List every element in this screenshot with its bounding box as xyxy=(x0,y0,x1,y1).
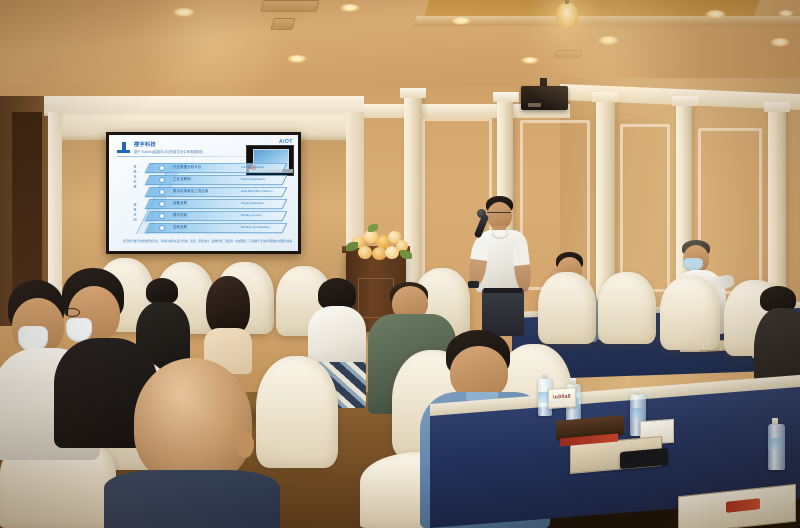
attendee-ear xyxy=(236,432,254,458)
diagram-layer xyxy=(145,199,288,209)
layer-label-en: Building Control xyxy=(241,211,261,221)
layer-label-cn: 设备互联 xyxy=(173,199,187,209)
flower-foliage xyxy=(368,224,378,232)
layer-label-cn: 工业互联网 xyxy=(173,175,191,185)
layer-label-en: Data Mid-Office Platform xyxy=(241,187,273,197)
presenter-head xyxy=(487,202,512,229)
downlight xyxy=(451,17,471,25)
slide-layer-diagram: 智能化系统 建筑空间 行业数据分析平台 Full Data Analysis 工… xyxy=(123,163,293,235)
layer-label-en: Single Application xyxy=(241,199,264,209)
downlight xyxy=(340,4,360,12)
presenter-glasses xyxy=(487,212,511,215)
layer-bullet-icon xyxy=(159,165,165,171)
diagram-axis-label-bottom: 建筑空间 xyxy=(133,203,137,223)
flower-foliage xyxy=(400,250,412,259)
presenter xyxy=(466,196,536,336)
downlight xyxy=(173,8,195,17)
flower-foliage xyxy=(346,242,358,251)
presenter-trousers xyxy=(482,288,524,336)
pilaster-capital xyxy=(764,102,790,112)
diagram-layer xyxy=(145,211,288,221)
conference-chair xyxy=(256,356,338,468)
layer-label-en: Smart Applications xyxy=(241,175,265,185)
projector-lens xyxy=(528,103,541,107)
conference-chair xyxy=(598,272,656,344)
layer-bullet-icon xyxy=(159,201,165,207)
air-vent xyxy=(270,18,295,30)
name-tent-card: \u00a0 xyxy=(548,387,576,409)
projection-screen: 楼宇科技 基于 Building智能化平台的楼宇全生命周期服务 AIOT 智能化… xyxy=(109,135,298,251)
layer-label-cn: 楼宇控制 xyxy=(173,211,187,221)
slide-footer-text: 基于楼宇数字化的智能化平台，为客户提供从设计咨询、安装、调试交付、运维升级、改造… xyxy=(123,240,295,244)
attendee-long-hair xyxy=(206,276,250,336)
conference-chair xyxy=(538,272,596,344)
layer-label-cn: 行业数据分析平台 xyxy=(173,163,201,173)
arch-beam-top xyxy=(44,96,364,116)
attendee-white-blouse xyxy=(308,306,366,364)
diagram-layer xyxy=(145,175,288,185)
layer-label-en: Full Data Analysis xyxy=(241,163,264,173)
wall-pilaster xyxy=(768,110,786,310)
layer-label-en: Building and Database xyxy=(241,223,270,233)
presentation-clicker xyxy=(468,281,479,288)
pilaster-capital xyxy=(672,96,698,106)
attendee-shoulders xyxy=(104,470,280,528)
microphone-head xyxy=(477,209,486,218)
presenter-belt xyxy=(484,288,522,293)
layer-bullet-icon xyxy=(159,177,165,183)
projection-screen-frame: 楼宇科技 基于 Building智能化平台的楼宇全生命周期服务 AIOT 智能化… xyxy=(106,132,301,254)
layer-label-cn: 数字化场景及工具应用 xyxy=(173,187,208,197)
pilaster-capital xyxy=(592,92,618,102)
layer-bullet-icon xyxy=(159,213,165,219)
downlight xyxy=(770,38,790,47)
pilaster-capital xyxy=(493,92,519,102)
attendee-bald-head xyxy=(134,358,252,484)
wall-panel xyxy=(620,124,670,292)
pilaster-capital xyxy=(400,88,426,98)
slide-title: 楼宇科技 xyxy=(134,141,156,148)
diagram-axis-label-top: 智能化系统 xyxy=(133,165,137,190)
conference-room-photo: 楼宇科技 基于 Building智能化平台的楼宇全生命周期服务 AIOT 智能化… xyxy=(0,0,800,528)
attendee-glasses xyxy=(64,308,80,317)
downlight xyxy=(598,36,619,45)
downlight xyxy=(705,10,726,19)
flower-arrangement xyxy=(338,222,414,262)
downlight xyxy=(778,10,794,17)
diagram-layer xyxy=(145,163,288,173)
air-vent xyxy=(554,50,582,58)
slide-subtitle: 基于 Building智能化平台的楼宇全生命周期服务 xyxy=(134,149,203,154)
presenter-collar xyxy=(492,230,508,239)
conference-chair xyxy=(660,276,720,350)
flower-bloom xyxy=(358,246,372,259)
name-card-text: \u00a0 xyxy=(549,393,575,401)
company-logo xyxy=(117,142,130,155)
ceiling-cove-rim xyxy=(413,16,800,26)
downlight xyxy=(521,57,539,64)
layer-label-cn: 空间互联 xyxy=(173,223,187,233)
pendant-light xyxy=(556,2,578,28)
attendee-bald-foreground xyxy=(124,358,262,528)
wall-pilaster xyxy=(404,96,422,296)
layer-bullet-icon xyxy=(159,189,165,195)
water-bottle xyxy=(768,424,785,470)
air-vent xyxy=(260,0,319,12)
downlight xyxy=(287,55,307,63)
layer-bullet-icon xyxy=(159,225,165,231)
